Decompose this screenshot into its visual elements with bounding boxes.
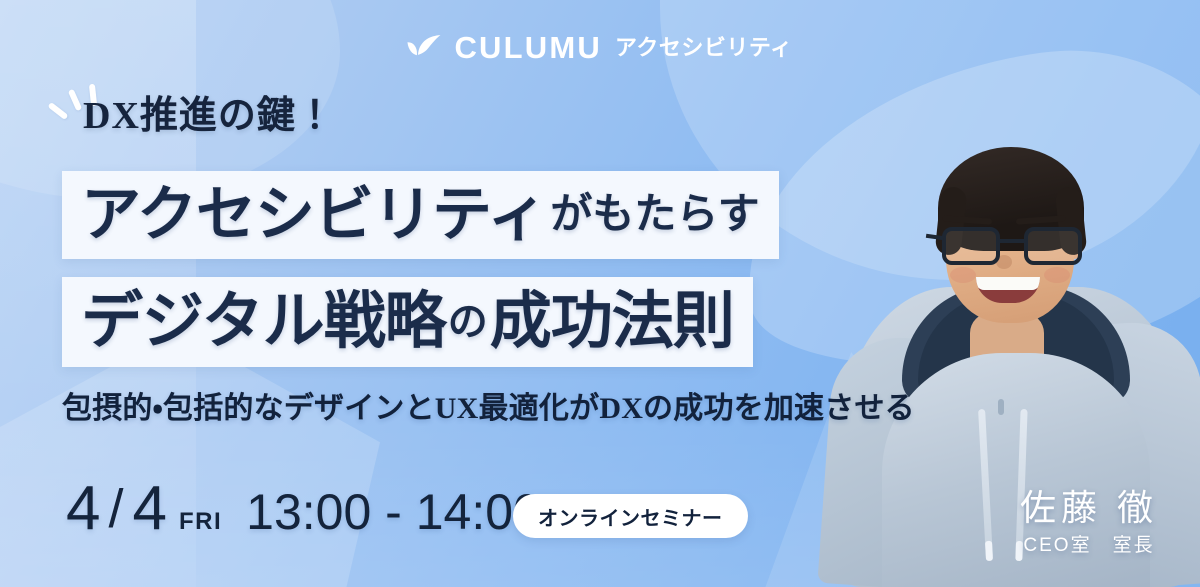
- sparkle-stroke: [47, 102, 68, 120]
- glasses-icon: [938, 227, 1086, 267]
- speaker-role: CEO室 室長: [1020, 536, 1158, 555]
- schedule-month: 4: [66, 478, 99, 540]
- logo-wordmark: CULUMU: [454, 32, 602, 63]
- sparkle-stroke: [68, 89, 82, 112]
- speaker-caption: 佐藤 徹 CEO室 室長: [1020, 488, 1158, 555]
- logo-subtitle: アクセシビリティ: [615, 37, 793, 59]
- headline-lead: 包摂的・包括的なデザインとUX最適化がDXの成功を加速させる: [62, 394, 915, 424]
- schedule-separator: /: [108, 482, 123, 536]
- glasses-bridge: [1000, 239, 1024, 243]
- speaker-name: 佐藤 徹: [1020, 488, 1158, 528]
- brand-logo[interactable]: CULUMU アクセシビリティ: [407, 32, 792, 63]
- glasses-lens-right: [1024, 227, 1082, 265]
- photo-cheek-left: [950, 267, 976, 283]
- headline-line2-b: 成功法則: [490, 291, 734, 353]
- schedule-row: 4 / 4 FRI 13:00 - 14:00: [66, 478, 541, 540]
- status-badge: オンラインセミナー: [513, 494, 748, 538]
- photo-drawstring-tip: [985, 541, 993, 561]
- schedule-time-range: 13:00 - 14:00: [246, 487, 541, 537]
- schedule-day-of-week: FRI: [179, 510, 222, 534]
- photo-cheek-right: [1044, 267, 1070, 283]
- leaf-icon: [407, 35, 441, 61]
- photo-hoodie-zip: [998, 399, 1004, 415]
- headline-kicker: DX推進の鍵！: [83, 97, 335, 135]
- headline-line1-main: アクセシビリティ: [81, 185, 546, 245]
- headline-line-1: アクセシビリティ がもたらす: [62, 171, 779, 259]
- glasses-lens-left: [942, 227, 1000, 265]
- schedule-day: 4: [133, 478, 166, 540]
- headline-line2-a: デジタル戦略: [81, 291, 446, 353]
- seminar-banner: CULUMU アクセシビリティ DX推進の鍵！ アクセシビリティ がもたらす デ…: [0, 0, 1200, 587]
- bg-polygon-bottom-left: [0, 330, 380, 587]
- headline-line1-tail: がもたらす: [550, 194, 759, 236]
- headline-line-2: デジタル戦略 の 成功法則: [62, 277, 753, 367]
- headline-line2-no: の: [448, 302, 488, 342]
- photo-teeth: [976, 277, 1040, 290]
